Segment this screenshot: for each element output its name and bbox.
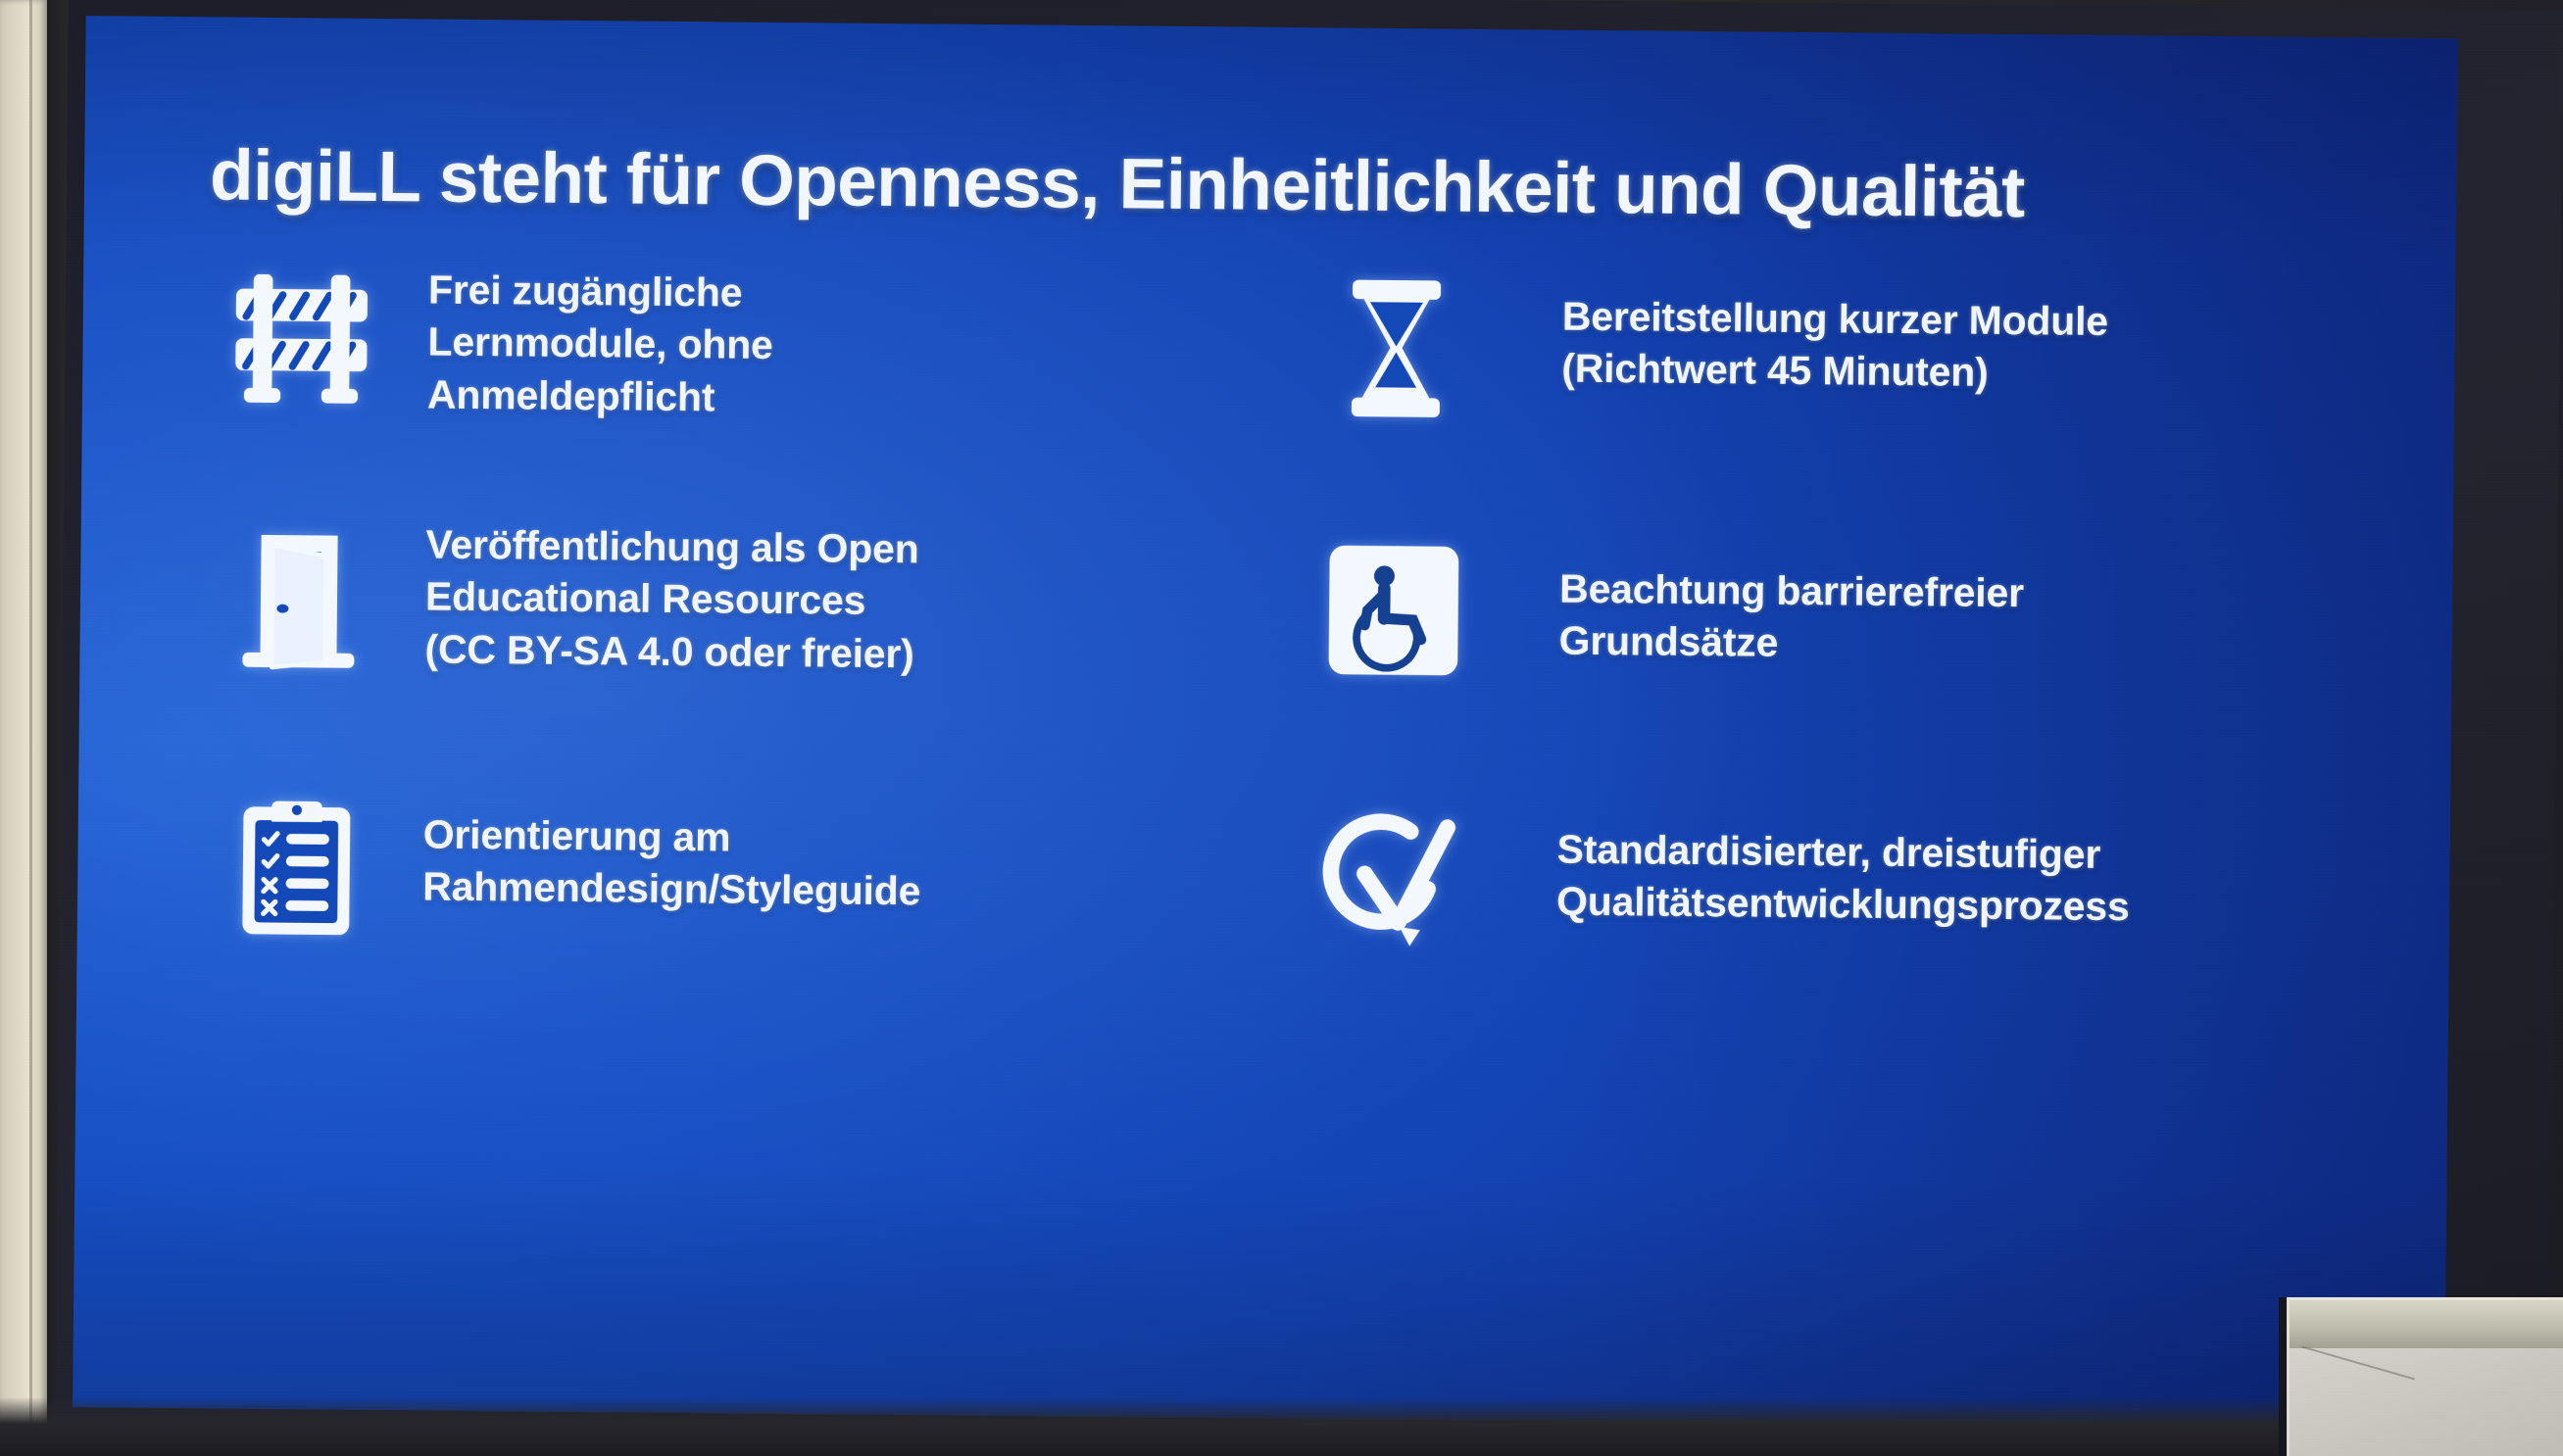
feature-item-bereitstellung: Bereitstellung kurzer Module (Richtwert …	[1291, 259, 2332, 445]
slide-title: digiLL steht für Openness, Einheitlichke…	[210, 134, 2328, 236]
feature-line: Orientierung am	[422, 809, 921, 866]
projected-slide-photo: digiLL steht für Openness, Einheitlichke…	[0, 0, 2563, 1456]
feature-line: (Richtwert 45 Minuten)	[1561, 343, 2108, 401]
feature-item-barrierefreiheit: Beachtung barrierefreier Grundsätze	[1288, 521, 2329, 707]
feature-text: Orientierung am Rahmendesign/Styleguide	[389, 808, 921, 918]
feature-grid: Frei zugängliche Lernmodule, ohne Anmeld…	[209, 248, 2365, 268]
wheelchair-accessibility-icon	[1300, 521, 1488, 700]
feature-text: Beachtung barrierefreier Grundsätze	[1486, 562, 2024, 672]
feature-text: Frei zugängliche Lernmodule, ohne Anmeld…	[394, 264, 774, 424]
left-wall-strip	[0, 0, 47, 1456]
feature-line: Rahmendesign/Styleguide	[422, 861, 921, 918]
feature-line: Beachtung barrierefreier	[1559, 563, 2024, 620]
open-door-icon	[205, 510, 393, 689]
feature-column-right: Bereitstellung kurzer Module (Richtwert …	[1292, 259, 2331, 268]
feature-line: Veröffentlichung als Open	[425, 519, 919, 576]
feature-line: (CC BY-SA 4.0 oder freier)	[424, 623, 918, 680]
whiteboard-crease	[2301, 1346, 2415, 1381]
feature-column-left: Frei zugängliche Lernmodule, ohne Anmeld…	[209, 248, 1248, 258]
feature-line: Grundsätze	[1558, 615, 2023, 672]
feature-item-veroeffentlichung: Veröffentlichung als Open Educational Re…	[205, 510, 1246, 697]
feature-text: Bereitstellung kurzer Module (Richtwert …	[1489, 290, 2108, 401]
feature-line: Qualitätsentwicklungsprozess	[1556, 876, 2130, 934]
feature-line: Standardisierter, dreistufiger	[1556, 824, 2130, 882]
hourglass-icon	[1303, 259, 1491, 437]
feature-line: Frei zugängliche	[428, 265, 774, 320]
feature-line: Anmeldepflicht	[427, 368, 773, 424]
whiteboard-foreground	[2279, 1289, 2563, 1456]
projection-screen-frame: digiLL steht für Openness, Einheitlichke…	[55, 0, 2563, 1456]
whiteboard-top-rail	[2287, 1297, 2563, 1353]
presentation-slide: digiLL steht für Openness, Einheitlichke…	[73, 16, 2458, 1430]
feature-line: Educational Resources	[425, 571, 919, 628]
road-barrier-icon	[208, 248, 396, 426]
clipboard-checklist-icon	[203, 777, 391, 955]
feature-line: Bereitstellung kurzer Module	[1562, 291, 2109, 349]
feature-text: Veröffentlichung als Open Educational Re…	[391, 518, 919, 680]
quality-cycle-check-icon	[1297, 788, 1485, 966]
feature-line: Lernmodule, ohne	[427, 316, 773, 372]
feature-item-orientierung: Orientierung am Rahmendesign/Styleguide	[203, 777, 1244, 963]
feature-item-frei-zugaengliche: Frei zugängliche Lernmodule, ohne Anmeld…	[208, 248, 1249, 434]
feature-item-qualitaetsprozess: Standardisierter, dreistufiger Qualitäts…	[1285, 788, 2326, 974]
wall-seam-line	[29, 0, 32, 1456]
whiteboard-surface	[2287, 1348, 2563, 1456]
feature-text: Standardisierter, dreistufiger Qualitäts…	[1484, 823, 2130, 934]
